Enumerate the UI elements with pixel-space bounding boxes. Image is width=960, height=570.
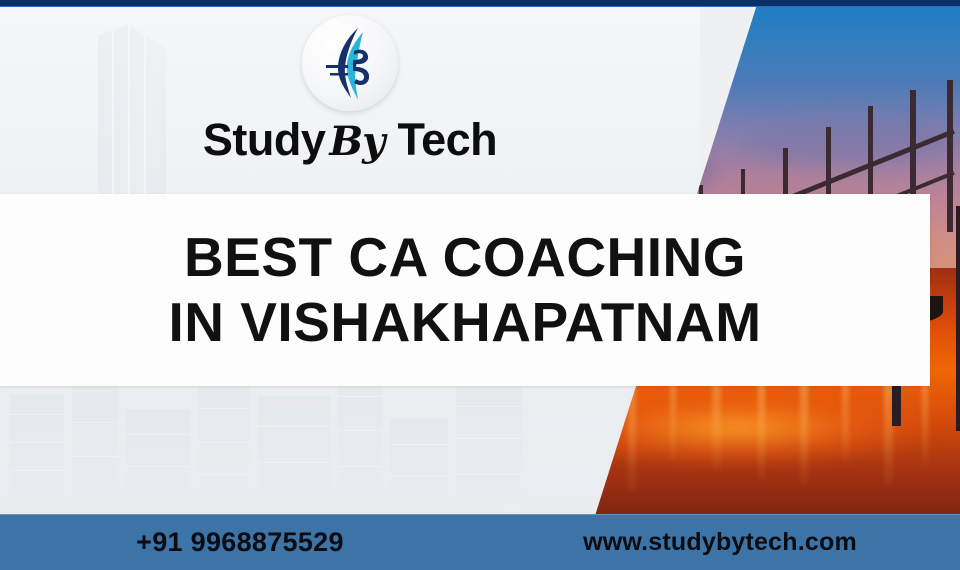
headline-panel: BEST CA COACHING IN VISHAKHAPATNAM — [0, 194, 930, 386]
headline-line-2: IN VISHAKHAPATNAM — [168, 290, 761, 355]
brand-wordmark: Study By Tech — [203, 117, 497, 162]
brand-word-by: By — [325, 122, 388, 162]
brand-word-study: Study — [203, 117, 326, 162]
footer-website-url[interactable]: www.studybytech.com — [480, 528, 960, 557]
headline-line-1: BEST CA COACHING — [184, 225, 746, 290]
studybytech-logo-icon — [302, 15, 398, 111]
brand-block: Study By Tech — [0, 8, 700, 188]
top-accent-rule — [0, 0, 960, 7]
brand-word-tech: Tech — [397, 117, 497, 162]
promo-banner: Study By Tech BEST CA COACHING IN VISHAK… — [0, 0, 960, 570]
footer-phone-number[interactable]: +91 9968875529 — [0, 527, 480, 558]
contact-footer: +91 9968875529 www.studybytech.com — [0, 514, 960, 570]
